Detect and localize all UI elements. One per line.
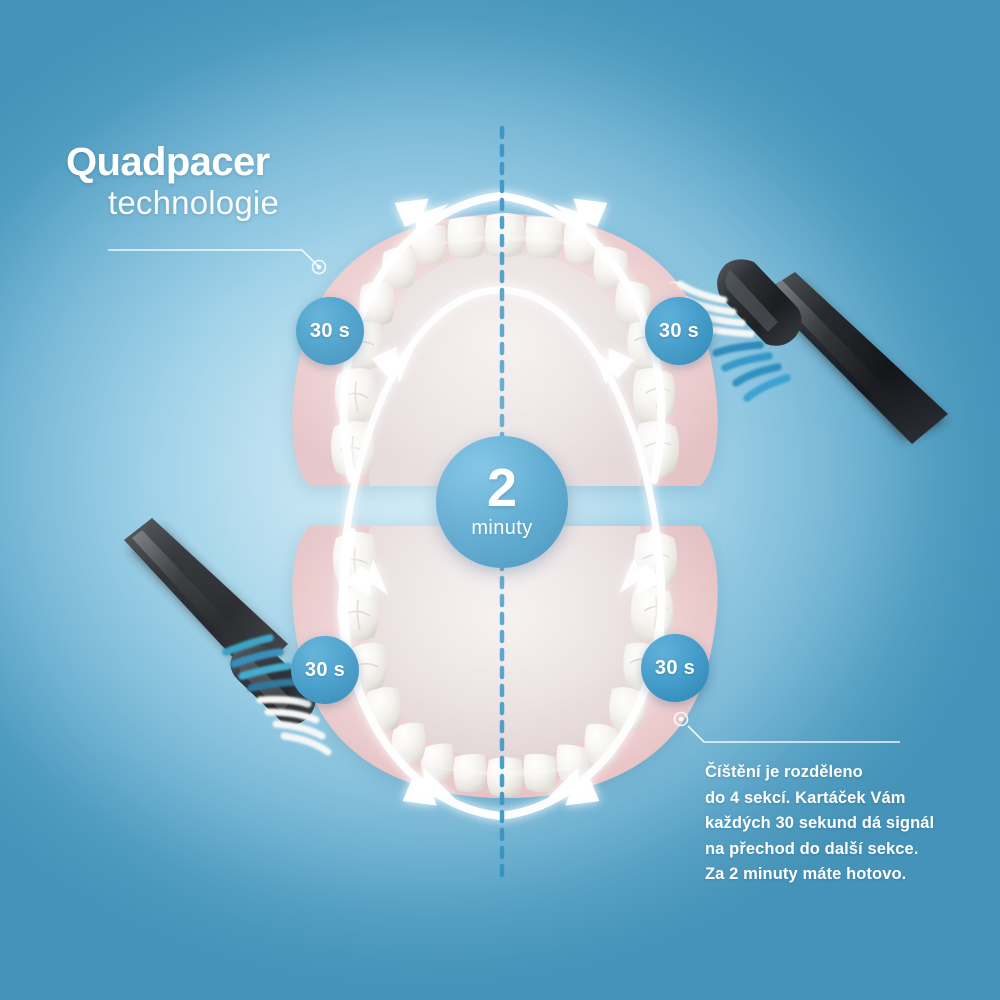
quadrant-badge-lower-left: 30 s [291, 636, 359, 704]
quadrant-badge-lower-right: 30 s [641, 634, 709, 702]
caption-line-5: Za 2 minuty máte hotovo. [705, 862, 985, 888]
center-badge-unit: minuty [471, 517, 532, 540]
quadrant-badge-upper-left: 30 s [296, 297, 364, 365]
title-subtitle: technologie [108, 186, 279, 221]
infographic-canvas: Quadpacer technologie 2 minuty 30 s 30 s… [0, 0, 1000, 1000]
caption-line-3: každých 30 sekund dá signál [705, 811, 985, 837]
title-leader-line [108, 250, 326, 274]
caption-block: Číštění je rozděleno do 4 sekcí. Kartáče… [705, 760, 985, 888]
caption-line-1: Číštění je rozděleno [705, 760, 985, 786]
caption-leader-line [675, 713, 901, 743]
page-title: Quadpacer technologie [66, 142, 279, 221]
caption-line-4: na přechod do další sekce. [705, 837, 985, 863]
center-badge-value: 2 [487, 464, 517, 514]
quadrant-badge-upper-right: 30 s [645, 297, 713, 365]
title-main: Quadpacer [66, 142, 279, 182]
center-duration-badge: 2 minuty [436, 436, 568, 568]
caption-line-2: do 4 sekcí. Kartáček Vám [705, 786, 985, 812]
